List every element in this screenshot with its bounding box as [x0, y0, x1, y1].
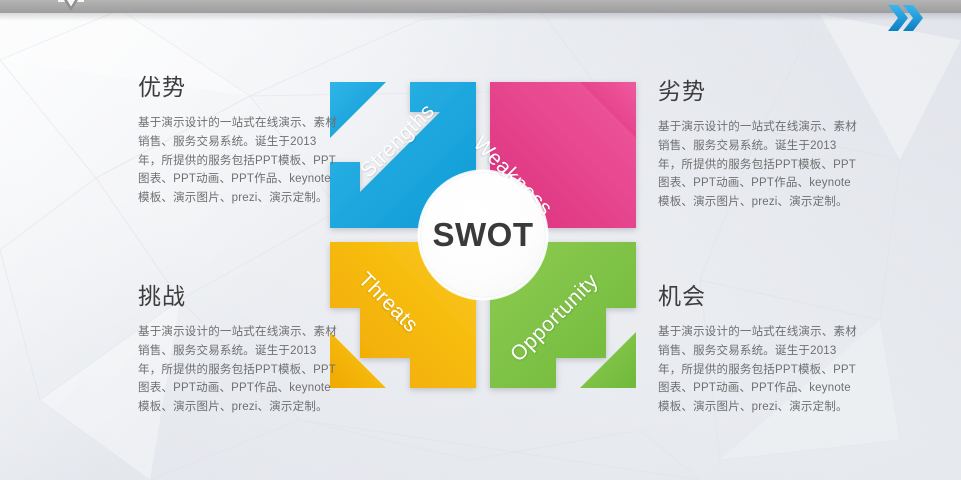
top-bar-shadow [0, 13, 961, 21]
text-block-strengths: 优势 基于演示设计的一站式在线演示、素材销售、服务交易系统。诞生于2013年，所… [138, 74, 338, 208]
text-block-body-strengths: 基于演示设计的一站式在线演示、素材销售、服务交易系统。诞生于2013年，所提供的… [138, 114, 338, 207]
text-block-title-strengths: 优势 [138, 74, 338, 100]
swot-center-label: SWOT [433, 216, 534, 254]
text-block-title-opportunity: 机会 [658, 283, 858, 309]
text-block-body-opportunity: 基于演示设计的一站式在线演示、素材销售、服务交易系统。诞生于2013年，所提供的… [658, 323, 858, 416]
swot-diagram: Strengths Weakness Threats Opportunity S… [318, 70, 648, 400]
double-chevron-right-icon [884, 2, 928, 36]
text-block-threats: 挑战 基于演示设计的一站式在线演示、素材销售、服务交易系统。诞生于2013年，所… [138, 283, 338, 417]
text-block-title-weakness: 劣势 [658, 78, 858, 104]
text-block-title-threats: 挑战 [138, 283, 338, 309]
text-block-body-threats: 基于演示设计的一站式在线演示、素材销售、服务交易系统。诞生于2013年，所提供的… [138, 323, 338, 416]
swot-center-disc: SWOT [421, 173, 545, 297]
top-bar [0, 0, 961, 13]
text-block-opportunity: 机会 基于演示设计的一站式在线演示、素材销售、服务交易系统。诞生于2013年，所… [658, 283, 858, 417]
chevron-down-icon [58, 0, 84, 18]
text-block-weakness: 劣势 基于演示设计的一站式在线演示、素材销售、服务交易系统。诞生于2013年，所… [658, 78, 858, 212]
text-block-body-weakness: 基于演示设计的一站式在线演示、素材销售、服务交易系统。诞生于2013年，所提供的… [658, 118, 858, 211]
slide-canvas: Strengths Weakness Threats Opportunity S… [0, 0, 961, 480]
